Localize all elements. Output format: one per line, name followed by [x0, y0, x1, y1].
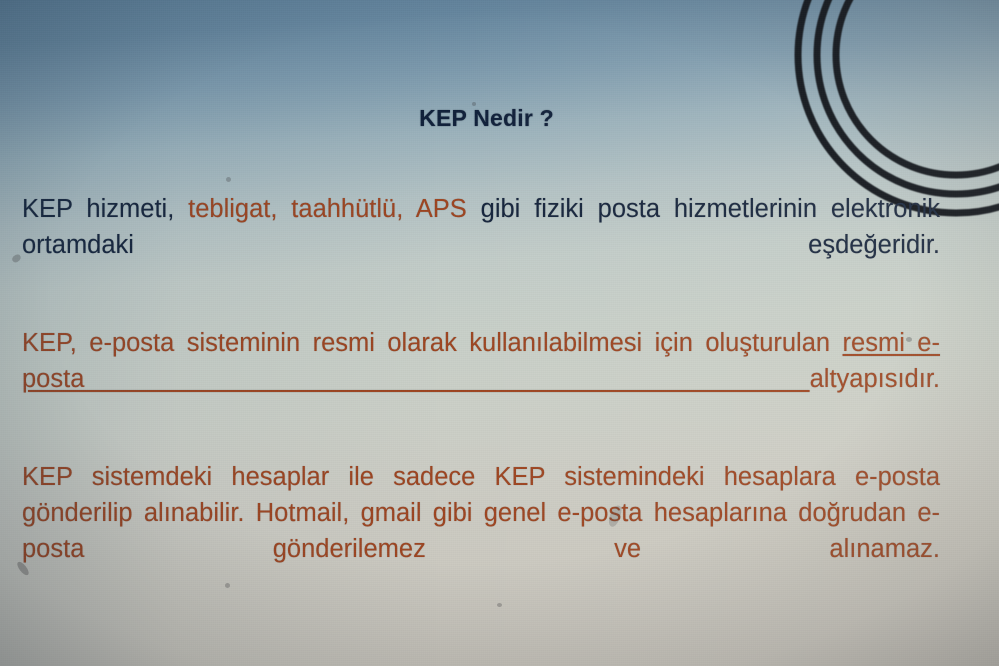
paragraph-3: KEP sistemdeki hesaplar ile sadece KEP s… [22, 459, 940, 603]
paragraph-2: KEP, e-posta sisteminin resmi olarak kul… [22, 325, 940, 433]
paragraph-2-run-1: KEP, e-posta sisteminin resmi olarak kul… [22, 329, 843, 357]
paragraph-1-run-2: tebligat, taahhütlü, [188, 195, 416, 223]
slide-title-text: KEP Nedir ? [419, 105, 554, 131]
slide-content: KEP Nedir ? KEP hizmeti, tebligat, taahh… [0, 0, 999, 666]
paragraph-2-run-3: altyapısıdır. [810, 365, 940, 393]
paragraph-1-run-1: KEP hizmeti, [22, 195, 188, 223]
projected-slide-photo: KEP Nedir ? KEP hizmeti, tebligat, taahh… [0, 0, 999, 666]
paragraph-1-run-3: APS [416, 195, 467, 223]
slide-paragraphs: KEP hizmeti, tebligat, taahhütlü, APS gi… [22, 191, 940, 603]
paragraph-3-run-1: KEP sistemdeki hesaplar ile sadece KEP s… [22, 463, 940, 563]
slide-title: KEP Nedir ? [0, 105, 999, 132]
paragraph-1: KEP hizmeti, tebligat, taahhütlü, APS gi… [22, 191, 940, 299]
